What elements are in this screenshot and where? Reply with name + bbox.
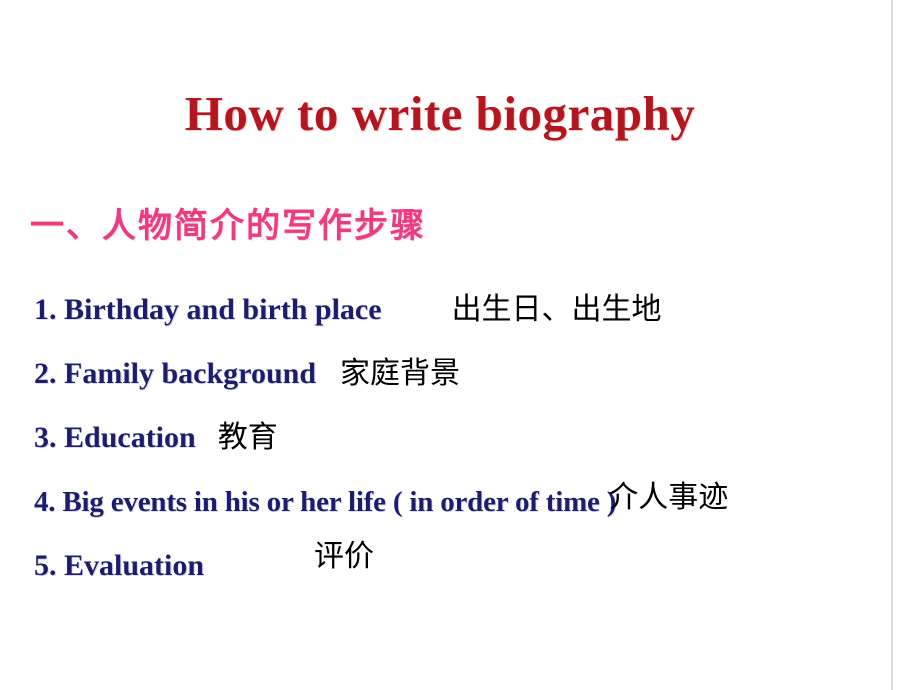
- step-english-label: 1. Birthday and birth place: [34, 293, 382, 327]
- list-item: 2. Family background家庭背景: [34, 348, 460, 392]
- slide-canvas: How to write biography 一、人物简介的写作步骤 1. Bi…: [0, 0, 920, 690]
- step-chinese-gloss: 教育: [218, 412, 278, 456]
- step-chinese-gloss: 介人事迹: [608, 472, 728, 516]
- list-item: 3. Education教育: [34, 412, 278, 456]
- list-item: 1. Birthday and birth place出生日、出生地: [34, 284, 662, 328]
- steps-list: 1. Birthday and birth place出生日、出生地 2. Fa…: [0, 0, 920, 690]
- step-english-label: 5. Evaluation: [34, 549, 204, 583]
- step-english-label: 3. Education: [34, 421, 196, 455]
- step-english-label: 2. Family background: [34, 357, 316, 391]
- step-english-label: 4. Big events in his or her life ( in or…: [34, 486, 616, 519]
- step-chinese-gloss: 家庭背景: [340, 348, 460, 392]
- list-item: 5. Evaluation评价: [34, 540, 374, 584]
- list-item: 4. Big events in his or her life ( in or…: [34, 476, 728, 520]
- step-chinese-gloss: 出生日、出生地: [452, 284, 662, 328]
- step-chinese-gloss: 评价: [314, 531, 374, 575]
